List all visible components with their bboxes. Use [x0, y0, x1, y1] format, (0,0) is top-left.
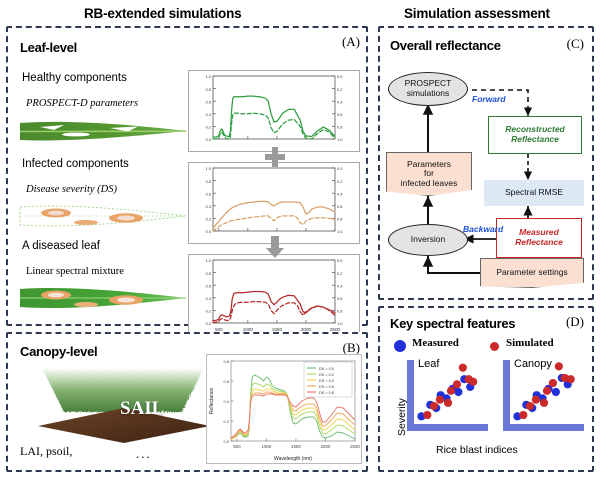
- chart-leaf-diseased: 0.00.20.40.60.81.00.00.20.40.60.81.05001…: [188, 254, 360, 336]
- edge-label-forward: Forward: [472, 94, 506, 104]
- svg-text:0.2: 0.2: [206, 125, 211, 130]
- svg-text:0.0: 0.0: [206, 137, 212, 142]
- svg-text:0.8: 0.8: [206, 87, 211, 92]
- svg-text:0.8: 0.8: [206, 271, 211, 276]
- node-parameters-infected-leaves[interactable]: Parameters for infected leaves: [386, 152, 472, 196]
- chart-leaf-healthy: 0.00.20.40.60.81.00.00.20.40.60.81.0: [188, 70, 360, 152]
- svg-text:0.2: 0.2: [223, 419, 229, 424]
- node-measured-reflectance[interactable]: Measured Reflectance: [496, 218, 582, 258]
- svg-text:DS = 0.2: DS = 0.2: [319, 373, 334, 377]
- svg-text:0.4: 0.4: [206, 204, 212, 209]
- canopy-params-label: LAI, psoil,: [20, 444, 72, 459]
- svg-text:1.0: 1.0: [337, 137, 343, 142]
- legend-dot-measured: [394, 340, 406, 352]
- node-parameters-label: Parameters for infected leaves: [401, 160, 458, 189]
- figure-root: RB-extended simulations Simulation asses…: [0, 0, 600, 478]
- linear-spectral-mixture-label: Linear spectral mixture: [26, 266, 124, 277]
- svg-text:0.8: 0.8: [337, 309, 342, 314]
- svg-text:0.4: 0.4: [206, 296, 212, 301]
- node-reconstructed-reflectance[interactable]: Reconstructed Reflectance: [488, 116, 582, 154]
- node-parameter-settings[interactable]: Parameter settings: [480, 258, 584, 288]
- svg-text:DS = 0.6: DS = 0.6: [319, 385, 334, 389]
- plus-connector-icon: [264, 146, 286, 168]
- svg-text:DS = 0.8: DS = 0.8: [319, 391, 334, 395]
- svg-text:0.6: 0.6: [223, 379, 229, 384]
- prospect-d-parameters-label: PROSPECT-D parameters: [26, 98, 138, 109]
- diseased-leaf-label: A diseased leaf: [22, 240, 100, 252]
- node-rmse-label: Spectral RMSE: [505, 188, 563, 198]
- healthy-components-label: Healthy components: [22, 72, 127, 84]
- svg-text:0.4: 0.4: [337, 283, 343, 288]
- svg-text:0.4: 0.4: [337, 99, 343, 104]
- svg-text:0.6: 0.6: [206, 191, 211, 196]
- panel-a-tag: (A): [342, 34, 360, 50]
- svg-text:1500: 1500: [291, 444, 301, 449]
- svg-text:0.2: 0.2: [206, 309, 211, 314]
- svg-text:0.0: 0.0: [206, 229, 212, 234]
- svg-text:0.6: 0.6: [337, 204, 342, 209]
- panel-a-title: Leaf-level: [20, 40, 77, 55]
- svg-text:DS = 0.0: DS = 0.0: [319, 367, 334, 371]
- svg-text:0.6: 0.6: [337, 296, 342, 301]
- node-prospect-label: PROSPECT simulations: [405, 79, 452, 98]
- svg-text:0.0: 0.0: [206, 321, 212, 326]
- panel-d-title: Key spectral features: [390, 316, 515, 331]
- svg-text:0.4: 0.4: [223, 399, 229, 404]
- sail-model-label: SAIL: [120, 398, 164, 420]
- svg-text:0.4: 0.4: [337, 191, 343, 196]
- svg-text:0.0: 0.0: [337, 258, 343, 263]
- svg-text:1.0: 1.0: [206, 74, 212, 79]
- svg-text:1.0: 1.0: [337, 321, 343, 326]
- right-column-title: Simulation assessment: [404, 6, 550, 21]
- svg-text:0.2: 0.2: [337, 271, 342, 276]
- svg-text:1.0: 1.0: [337, 229, 343, 234]
- diseased-leaf-illustration: [18, 282, 188, 318]
- svg-text:0.2: 0.2: [206, 217, 211, 222]
- svg-text:500: 500: [233, 444, 241, 449]
- svg-text:DS = 0.4: DS = 0.4: [319, 379, 334, 383]
- infected-components-label: Infected components: [22, 158, 129, 170]
- node-spectral-rmse[interactable]: Spectral RMSE: [484, 180, 584, 206]
- infected-leaf-illustration: [18, 200, 188, 236]
- node-inversion[interactable]: Inversion: [388, 224, 468, 256]
- legend-label-measured: Measured: [412, 337, 459, 349]
- svg-text:0.0: 0.0: [337, 166, 343, 171]
- svg-text:0.6: 0.6: [206, 99, 211, 104]
- svg-text:Reflectance: Reflectance: [209, 388, 215, 415]
- svg-text:0.4: 0.4: [206, 112, 212, 117]
- arrow-down-connector-icon: [266, 236, 284, 258]
- svg-text:2500: 2500: [350, 444, 360, 449]
- panel-overall-reflectance: Overall reflectance (C) PRO: [378, 26, 594, 300]
- rice-blast-indices-axis-label: Rice blast indices: [436, 444, 518, 456]
- chart-canopy-ds: 0.00.20.40.60.85001000150020002500Wavele…: [206, 354, 362, 464]
- panel-canopy-level: Canopy-level (B): [6, 332, 368, 472]
- panel-key-spectral-features: Key spectral features (D) Measured Simul…: [378, 306, 594, 472]
- svg-text:1.0: 1.0: [206, 166, 212, 171]
- legend-label-simulated: Simulated: [506, 337, 554, 349]
- svg-text:0.0: 0.0: [223, 439, 229, 444]
- svg-text:0.0: 0.0: [337, 74, 343, 79]
- disease-severity-label: Disease severity (DS): [26, 184, 117, 195]
- node-prospect-simulations[interactable]: PROSPECT simulations: [388, 72, 468, 106]
- svg-text:0.2: 0.2: [337, 179, 342, 184]
- svg-text:0.8: 0.8: [337, 125, 342, 130]
- svg-text:1000: 1000: [262, 444, 272, 449]
- healthy-leaf-illustration: [18, 116, 188, 150]
- svg-text:0.6: 0.6: [206, 283, 211, 288]
- node-settings-label: Parameter settings: [496, 268, 567, 278]
- svg-text:Wavelength (nm): Wavelength (nm): [274, 456, 312, 462]
- panel-d-tag: (D): [566, 314, 584, 330]
- svg-text:0.8: 0.8: [206, 179, 211, 184]
- svg-text:0.8: 0.8: [337, 217, 342, 222]
- svg-text:1.0: 1.0: [206, 258, 212, 263]
- node-measured-label: Measured Reflectance: [515, 228, 563, 247]
- scatter-plot-leaf: [400, 356, 492, 438]
- sail-canopy-illustration: SAIL: [32, 364, 214, 444]
- chart-leaf-infected: 0.00.20.40.60.81.00.00.20.40.60.81.0: [188, 162, 360, 244]
- scatter-canopy-title: Canopy: [514, 358, 552, 370]
- edge-label-backward: Backward: [463, 224, 503, 234]
- left-column-title: RB-extended simulations: [84, 6, 241, 21]
- svg-text:0.8: 0.8: [223, 359, 229, 364]
- svg-text:0.2: 0.2: [337, 87, 342, 92]
- scatter-leaf-title: Leaf: [418, 358, 439, 370]
- svg-text:2000: 2000: [321, 444, 331, 449]
- canopy-params-ellipsis: ...: [136, 446, 152, 462]
- panel-b-title: Canopy-level: [20, 344, 97, 359]
- panel-leaf-level: Leaf-level (A) Healthy components PROSPE…: [6, 26, 368, 326]
- node-reconstructed-label: Reconstructed Reflectance: [505, 125, 565, 144]
- svg-text:0.6: 0.6: [337, 112, 342, 117]
- node-inversion-label: Inversion: [411, 235, 446, 245]
- legend-dot-simulated: [490, 342, 499, 351]
